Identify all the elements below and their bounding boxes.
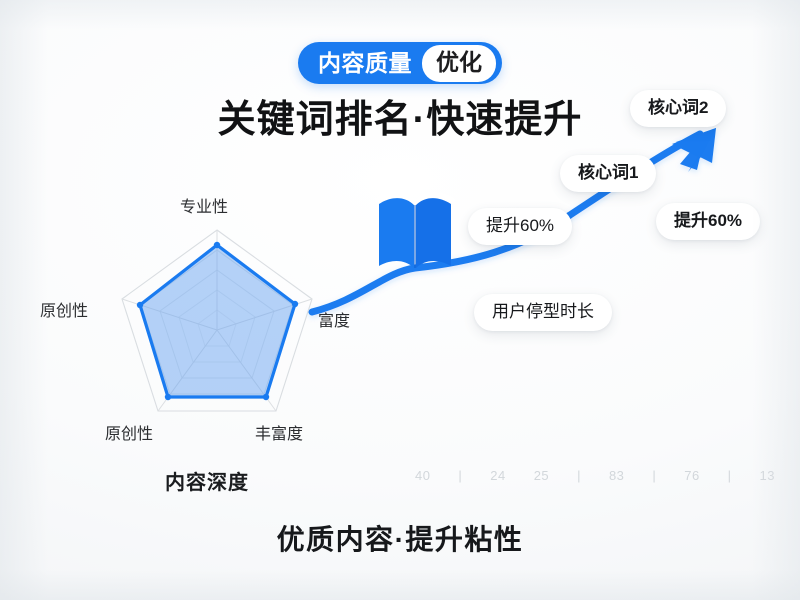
radar-series-content-depth — [137, 242, 298, 400]
axis-tick: | — [577, 468, 581, 483]
badge-main-label: 内容质量 — [318, 52, 422, 75]
axis-tick: 83 — [609, 468, 624, 483]
axis-tick: | — [728, 468, 732, 483]
radar-axis-label-bottom-left: 原创性 — [105, 420, 153, 444]
axis-tick: 76 — [684, 468, 699, 483]
axis-tick: | — [458, 468, 462, 483]
radar-axis-label-top: 专业性 — [180, 193, 228, 217]
callout-core-keyword-1[interactable]: 核心词1 — [560, 155, 656, 192]
radar-axis-label-left: 原创性 — [40, 297, 88, 321]
content-depth-label: 内容深度 — [165, 466, 249, 495]
badge-pill-label: 优化 — [422, 45, 496, 82]
axis-tick: | — [652, 468, 656, 483]
page-subtitle: 优质内容·提升粘性 — [0, 518, 800, 558]
axis-tick: 25 — [534, 468, 549, 483]
content-quality-badge[interactable]: 内容质量 优化 — [298, 42, 502, 84]
callout-uplift-right[interactable]: 提升60% — [656, 203, 760, 240]
radar-chart: 专业性 富度 丰富度 原创性 原创性 — [60, 215, 380, 450]
axis-tick: 40 — [415, 468, 430, 483]
axis-tick: 24 — [490, 468, 505, 483]
callout-core-keyword-2[interactable]: 核心词2 — [630, 90, 726, 127]
open-book-icon — [371, 186, 459, 278]
callout-uplift-left[interactable]: 提升60% — [468, 208, 572, 245]
axis-tick-row: 40 | 24 25 | 83 | 76 | 13 — [415, 468, 775, 483]
callout-dwell-time[interactable]: 用户停型时长 — [474, 294, 612, 331]
radar-axis-label-right: 富度 — [318, 307, 350, 331]
radar-axis-label-bottom-right: 丰富度 — [255, 420, 303, 444]
axis-tick: 13 — [759, 468, 774, 483]
slide-canvas: 内容质量 优化 关键词排名·快速提升 — [0, 0, 800, 600]
